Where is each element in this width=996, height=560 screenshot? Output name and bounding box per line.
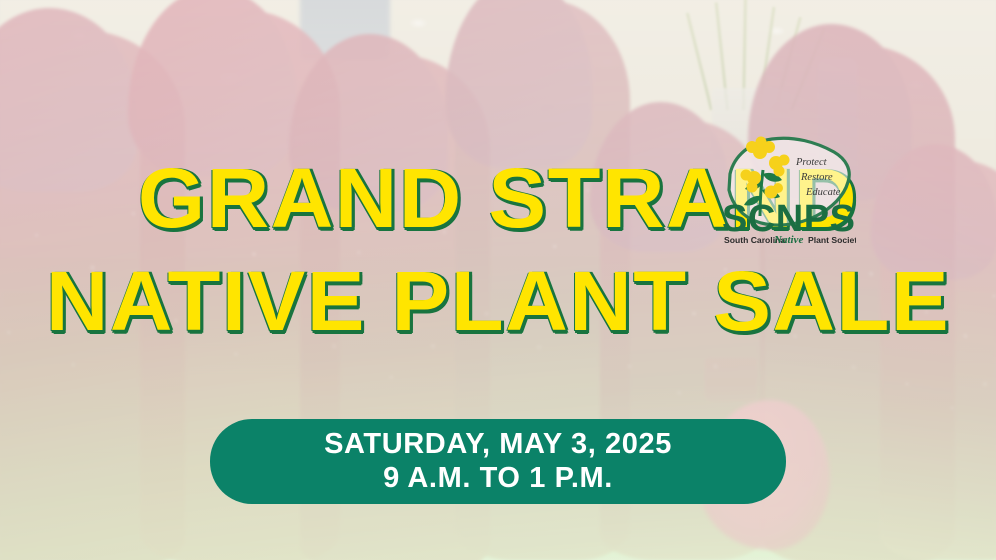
event-date-banner: SATURDAY, MAY 3, 2025 9 A.M. TO 1 P.M. — [210, 419, 786, 504]
scnps-logo: Protect Restore Educate SCNPS South Caro… — [716, 130, 856, 248]
svg-text:Plant Society: Plant Society — [808, 235, 856, 245]
svg-text:Native: Native — [773, 234, 803, 246]
event-time: 9 A.M. TO 1 P.M. — [383, 462, 613, 495]
headline-line-2: NATIVE PLANT SALE — [0, 261, 996, 342]
svg-text:Protect: Protect — [795, 157, 828, 168]
plant-sale-poster: GRAND STRAND NATIVE PLANT SALE — [0, 0, 996, 560]
svg-text:Educate: Educate — [805, 187, 841, 198]
svg-text:Restore: Restore — [800, 172, 833, 183]
event-date: SATURDAY, MAY 3, 2025 — [324, 428, 672, 461]
logo-tagline: South Carolina Native Plant Society — [724, 234, 856, 246]
